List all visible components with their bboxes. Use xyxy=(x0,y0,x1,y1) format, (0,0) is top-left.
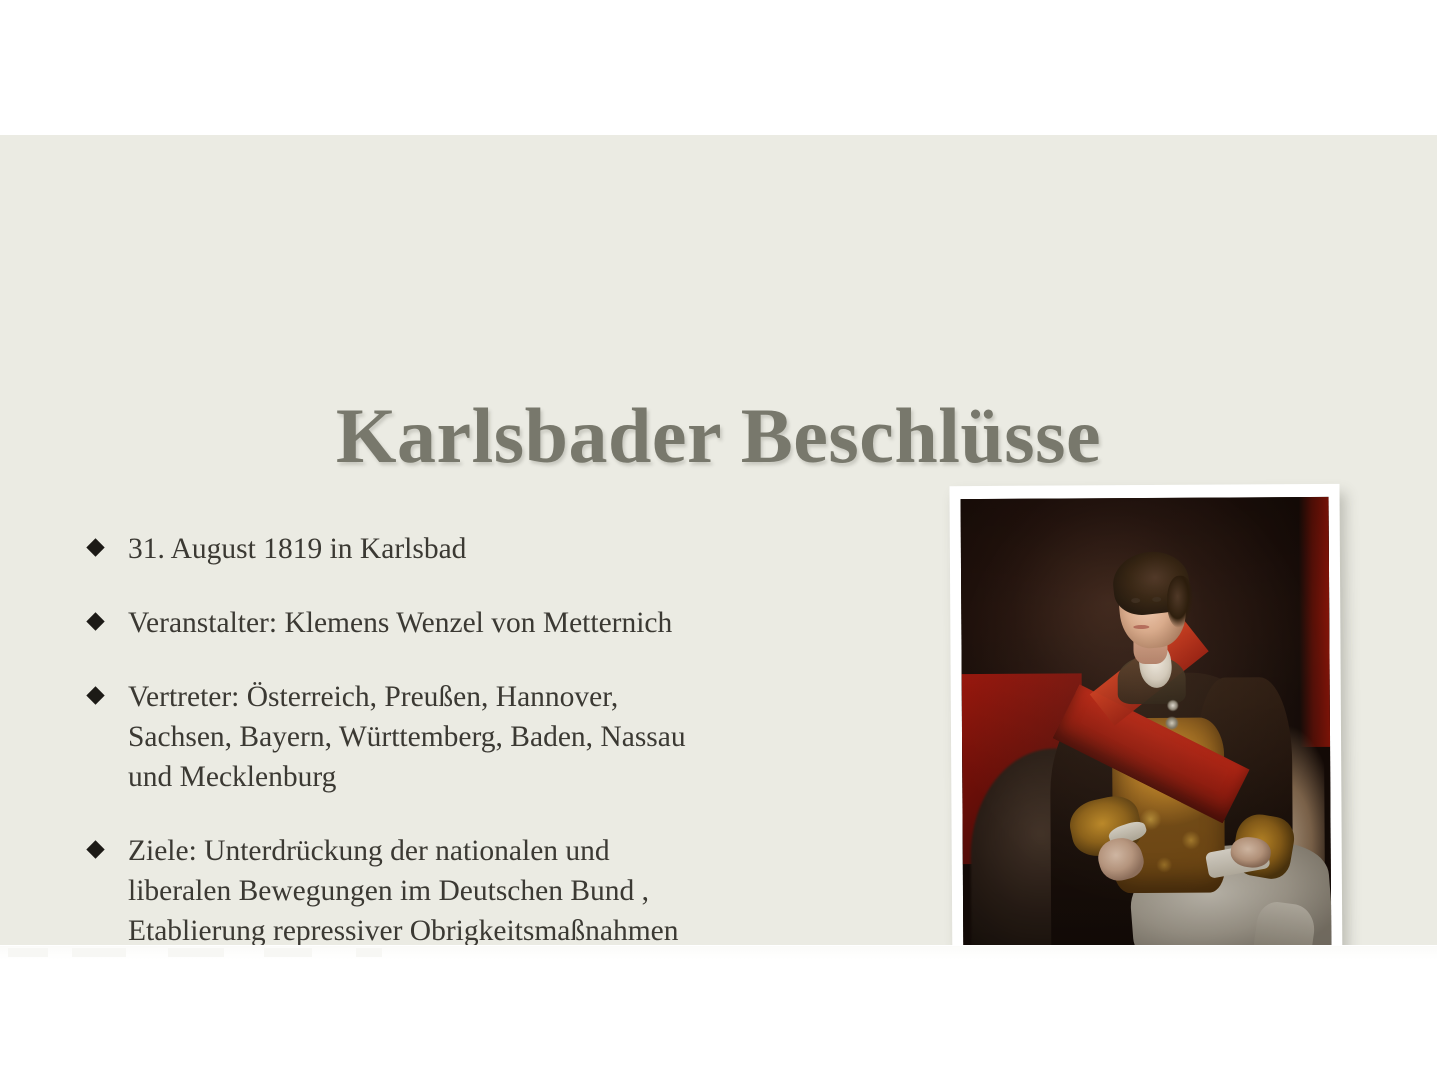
diamond-bullet-icon xyxy=(86,686,104,704)
diamond-bullet-icon xyxy=(86,612,104,630)
painting-hair-side xyxy=(1167,576,1193,628)
list-item-text: 31. August 1819 in Karlsbad xyxy=(128,529,914,569)
painting-eye-right xyxy=(1152,597,1161,602)
diamond-bullet-icon xyxy=(86,840,104,858)
slide: Karlsbader Beschlüsse 31. August 1819 in… xyxy=(0,135,1437,945)
painting-eye-left xyxy=(1131,598,1140,603)
below-slide-artifact xyxy=(0,946,1437,960)
list-item-text: Veranstalter: Klemens Wenzel von Mettern… xyxy=(128,603,914,643)
presentation-canvas: Karlsbader Beschlüsse 31. August 1819 in… xyxy=(0,0,1437,1080)
painting-medal xyxy=(1160,696,1186,740)
list-item: Vertreter: Österreich, Preußen, Hannover… xyxy=(84,677,914,797)
diamond-bullet-icon xyxy=(86,538,104,556)
list-item: Ziele: Unterdrückung der nationalen und … xyxy=(84,831,914,945)
list-item-text: Vertreter: Österreich, Preußen, Hannover… xyxy=(128,677,914,797)
list-item: Veranstalter: Klemens Wenzel von Mettern… xyxy=(84,603,914,643)
list-item: 31. August 1819 in Karlsbad xyxy=(84,529,914,569)
portrait-image xyxy=(961,497,1332,945)
bullet-list: 31. August 1819 in Karlsbad Veranstalter… xyxy=(84,529,914,945)
slide-title: Karlsbader Beschlüsse xyxy=(0,395,1437,477)
list-item-text: Ziele: Unterdrückung der nationalen und … xyxy=(128,831,914,945)
portrait-frame xyxy=(949,484,1342,945)
